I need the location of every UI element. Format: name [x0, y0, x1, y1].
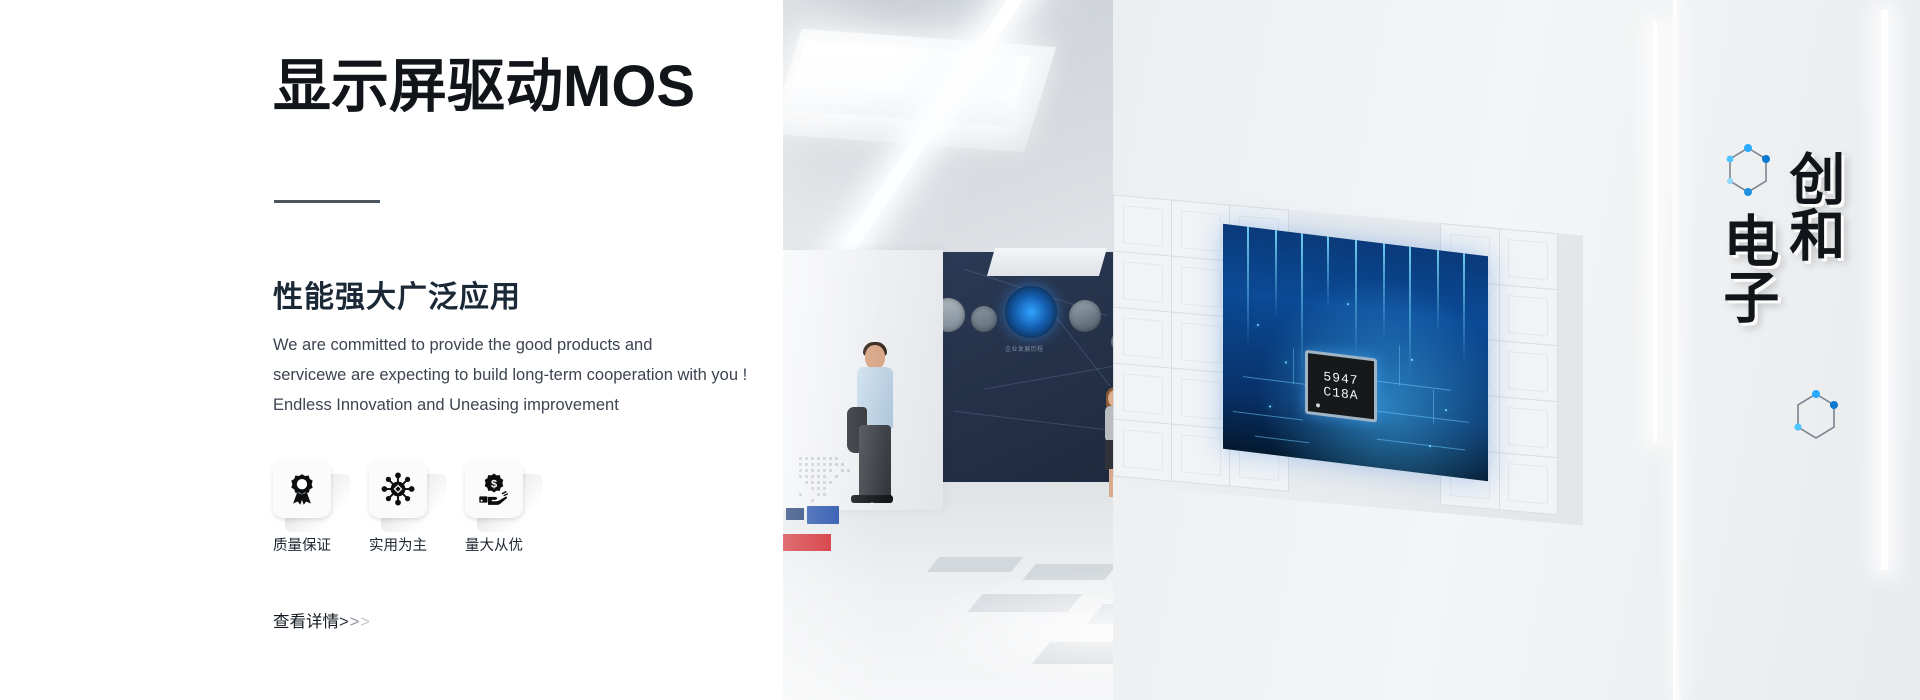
wall-plaque-dark: [786, 508, 804, 520]
feature-item-bulk-discount[interactable]: $ 量大从优: [465, 460, 561, 555]
exhibit-circle: [1069, 300, 1101, 332]
wall-edge-light: [1673, 0, 1683, 700]
hexagon-molecule-icon: [1787, 388, 1845, 450]
feature-label: 实用为主: [369, 534, 427, 555]
view-detail-text: 查看详情: [273, 613, 339, 631]
head: [865, 345, 885, 369]
feature-label: 质量保证: [273, 534, 331, 555]
description-paragraph: We are committed to provide the good pro…: [273, 330, 713, 420]
exhibit-circle: [971, 306, 997, 332]
description-line-2: servicewe are expecting to build long-te…: [273, 360, 713, 390]
hand-holding-money-badge: $: [465, 460, 523, 518]
feature-item-quality[interactable]: 质量保证: [273, 460, 369, 555]
showroom-right-wall: 5947 C18A 创和 电子: [1113, 0, 1920, 700]
shoe: [871, 495, 893, 503]
person-man: [845, 345, 909, 505]
shoe: [851, 495, 873, 503]
vertical-glow-strip: [1881, 10, 1888, 570]
description-line-1: We are committed to provide the good pro…: [273, 330, 713, 360]
showroom-photo: 企业发展历程 创新研发 R&D INNOVATION: [783, 0, 1920, 700]
svg-text:$: $: [491, 478, 497, 490]
led-display-screen: 5947 C18A: [1223, 224, 1488, 482]
hero-banner: 显示屏驱动MOS 性能强大广泛应用 We are committed to pr…: [0, 0, 1920, 700]
hexagon-molecule-icon: [1719, 142, 1777, 204]
brand-column-right: 创和: [1785, 150, 1840, 262]
description-line-3: Endless Innovation and Uneasing improvem…: [273, 390, 713, 420]
view-detail-link[interactable]: 查看详情>>>: [273, 608, 371, 632]
wall-plaque-red: [783, 534, 831, 551]
hand-holding-money-icon: $: [477, 472, 511, 506]
left-text-panel: 显示屏驱动MOS 性能强大广泛应用 We are committed to pr…: [0, 0, 783, 700]
title-divider: [274, 200, 380, 203]
wall-plaque-blue: [807, 506, 839, 524]
vertical-glow-strip: [1653, 22, 1657, 442]
award-ribbon-badge: [273, 460, 331, 518]
network-hub-icon: [381, 472, 415, 506]
brand-column-left: 电子: [1719, 212, 1774, 324]
trousers: [859, 425, 891, 497]
feature-item-practical[interactable]: 实用为主: [369, 460, 465, 555]
network-hub-badge: [369, 460, 427, 518]
exhibit-circle: [943, 298, 965, 332]
exhibit-circle-chip: [1005, 286, 1057, 338]
page-title: 显示屏驱动MOS: [273, 58, 695, 116]
feature-list: 质量保证: [273, 460, 561, 555]
chip-graphic: 5947 C18A: [1305, 350, 1377, 423]
chip-label-line-2: C18A: [1323, 384, 1358, 403]
subtitle: 性能强大广泛应用: [273, 272, 521, 316]
chip-pin-dot: [1316, 403, 1320, 407]
ceiling-soffit: [987, 248, 1107, 276]
brand-signage: 创和 电子: [1713, 150, 1873, 430]
chevron-right-icon: >>>: [339, 613, 371, 631]
feature-label: 量大从优: [465, 534, 523, 555]
award-ribbon-icon: [285, 472, 319, 506]
